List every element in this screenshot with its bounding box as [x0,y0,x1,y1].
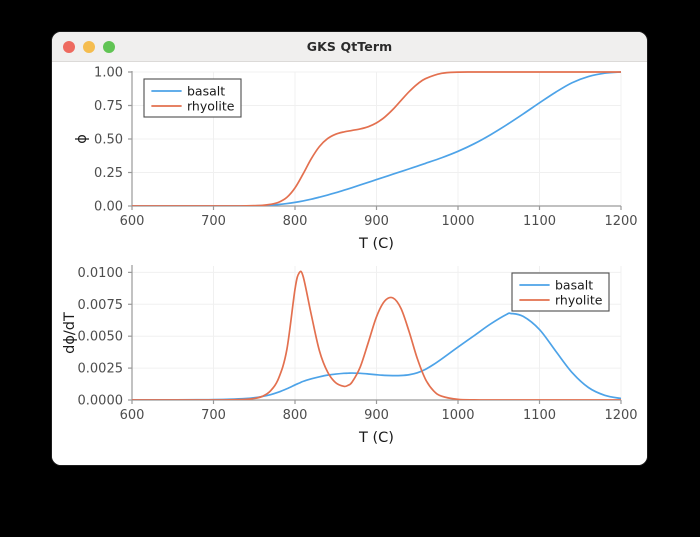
legend-label-rhyolite: rhyolite [187,99,235,114]
x-tick-label: 1000 [441,214,474,229]
x-tick-label: 800 [283,214,308,229]
y-tick-label: 1.00 [94,66,123,81]
minimize-icon[interactable] [83,41,95,53]
y-tick-label: 0.0075 [78,298,124,313]
y-tick-label: 0.75 [94,99,123,114]
close-icon[interactable] [63,41,75,53]
x-tick-label: 700 [201,408,226,423]
y-axis-label: dϕ/dT [62,312,78,354]
application-window: GKS QtTerm 6007008009001000110012000.000… [51,31,648,466]
x-axis-label: T (C) [358,430,394,446]
figure-svg: 6007008009001000110012000.000.250.500.75… [52,62,647,466]
plot-canvas: 6007008009001000110012000.000.250.500.75… [52,62,647,466]
x-axis-label: T (C) [358,236,394,252]
window-controls [63,32,115,61]
x-tick-label: 1100 [523,408,556,423]
y-tick-label: 0.25 [94,166,123,181]
x-tick-label: 900 [364,214,389,229]
chart-phi-plot: 6007008009001000110012000.000.250.500.75… [74,66,638,253]
y-axis-label: ϕ [74,134,90,144]
legend-label-basalt: basalt [555,278,593,293]
legend: basaltrhyolite [512,273,609,311]
x-tick-label: 1200 [604,214,637,229]
x-tick-label: 1000 [441,408,474,423]
legend: basaltrhyolite [144,79,241,117]
y-tick-label: 0.00 [94,200,123,215]
app-root: GKS QtTerm 6007008009001000110012000.000… [0,0,700,537]
y-tick-label: 0.0100 [78,266,124,281]
x-tick-label: 1100 [523,214,556,229]
window-titlebar[interactable]: GKS QtTerm [52,32,647,62]
x-tick-label: 1200 [604,408,637,423]
x-tick-label: 600 [120,408,145,423]
window-title: GKS QtTerm [52,39,647,54]
y-tick-label: 0.0025 [78,362,124,377]
chart-dphidt-plot: 6007008009001000110012000.00000.00250.00… [62,265,638,446]
y-tick-label: 0.0050 [78,330,124,345]
x-tick-label: 800 [283,408,308,423]
y-tick-label: 0.0000 [78,394,124,409]
legend-label-basalt: basalt [187,84,225,99]
x-tick-label: 700 [201,214,226,229]
legend-label-rhyolite: rhyolite [555,293,603,308]
maximize-icon[interactable] [103,41,115,53]
y-tick-label: 0.50 [94,133,123,148]
x-tick-label: 900 [364,408,389,423]
x-tick-label: 600 [120,214,145,229]
